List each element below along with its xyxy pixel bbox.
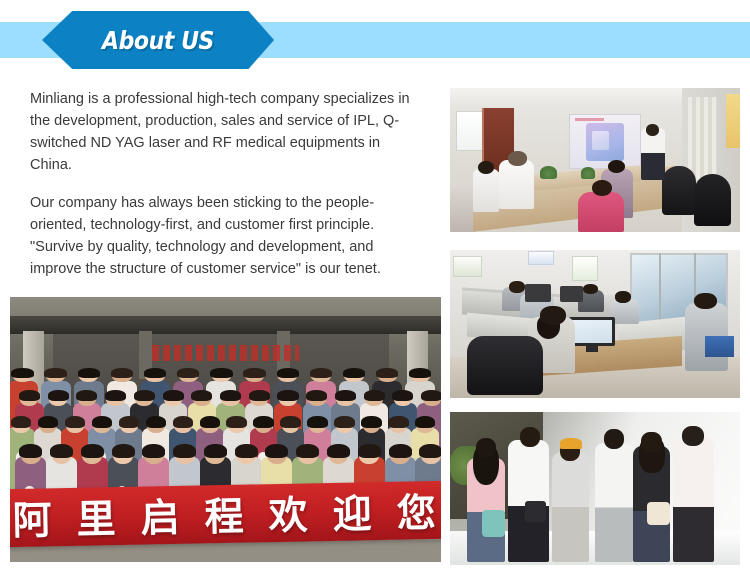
person-hair bbox=[310, 368, 332, 378]
person-hair bbox=[50, 444, 73, 458]
meeting-room-photo bbox=[450, 88, 740, 232]
person-hair bbox=[111, 368, 133, 378]
person-hair bbox=[119, 416, 139, 428]
person-hair bbox=[144, 368, 166, 378]
about-paragraph-1: Minliang is a professional high-tech com… bbox=[30, 88, 425, 176]
person-hair bbox=[409, 368, 431, 378]
person-hair bbox=[253, 416, 273, 428]
person-hair bbox=[92, 416, 112, 428]
person-hair bbox=[146, 416, 166, 428]
person-hair bbox=[421, 390, 441, 401]
person-hair bbox=[105, 390, 126, 401]
person-hair bbox=[392, 390, 413, 401]
about-text-column: Minliang is a professional high-tech com… bbox=[30, 88, 425, 296]
person-hair bbox=[280, 416, 300, 428]
person-hair bbox=[235, 444, 258, 458]
person-hair bbox=[44, 368, 66, 378]
person-hair bbox=[335, 390, 356, 401]
person-hair bbox=[65, 416, 85, 428]
person-hair bbox=[142, 444, 165, 458]
person-hair bbox=[306, 390, 327, 401]
person-hair bbox=[173, 416, 193, 428]
person-hair bbox=[177, 368, 199, 378]
person-hair bbox=[415, 416, 435, 428]
person-hair bbox=[296, 444, 319, 458]
person-hair bbox=[204, 444, 227, 458]
person-hair bbox=[334, 416, 354, 428]
banner-character: 里 bbox=[76, 488, 118, 545]
person-hair bbox=[277, 368, 299, 378]
person-hair bbox=[19, 390, 40, 401]
person-hair bbox=[191, 390, 212, 401]
person-hair bbox=[200, 416, 220, 428]
person-hair bbox=[173, 444, 196, 458]
person-hair bbox=[243, 368, 265, 378]
open-office-photo bbox=[450, 250, 740, 398]
person-hair bbox=[134, 390, 155, 401]
person-hair bbox=[376, 368, 398, 378]
banner-character: 程 bbox=[204, 486, 246, 543]
banner-character: 启 bbox=[140, 487, 182, 544]
person-hair bbox=[249, 390, 270, 401]
banner-character: 欢 bbox=[268, 485, 310, 542]
person-hair bbox=[19, 444, 42, 458]
person-hair bbox=[389, 444, 412, 458]
about-paragraph-2: Our company has always been sticking to … bbox=[30, 192, 425, 280]
person-hair bbox=[163, 390, 184, 401]
person-hair bbox=[81, 444, 104, 458]
banner-character: 迎 bbox=[332, 483, 374, 540]
person-hair bbox=[48, 390, 69, 401]
person-hair bbox=[220, 390, 241, 401]
person-hair bbox=[343, 368, 365, 378]
person-hair bbox=[78, 368, 100, 378]
person-hair bbox=[358, 444, 381, 458]
welcome-banner-text: 阿里启程欢迎您 bbox=[10, 481, 441, 548]
person-hair bbox=[11, 416, 31, 428]
about-us-page: About US Minliang is a professional high… bbox=[0, 0, 750, 585]
person-hair bbox=[364, 390, 385, 401]
page-title: About US bbox=[56, 11, 260, 69]
company-group-photo: 阿里启程欢迎您 bbox=[10, 297, 441, 562]
person-hair bbox=[265, 444, 288, 458]
team-outing-photo bbox=[450, 412, 740, 565]
person-hair bbox=[112, 444, 135, 458]
desktop-monitor bbox=[569, 317, 615, 347]
person-hair bbox=[361, 416, 381, 428]
banner-character: 您 bbox=[397, 482, 439, 539]
person-hair bbox=[307, 416, 327, 428]
person-hair bbox=[419, 444, 441, 458]
person-hair bbox=[226, 416, 246, 428]
person-hair bbox=[388, 416, 408, 428]
person-hair bbox=[327, 444, 350, 458]
person-hair bbox=[210, 368, 232, 378]
person-hair bbox=[76, 390, 97, 401]
banner-character: 阿 bbox=[12, 490, 54, 547]
person-hair bbox=[277, 390, 298, 401]
person-hair bbox=[38, 416, 58, 428]
person-hair bbox=[11, 368, 33, 378]
